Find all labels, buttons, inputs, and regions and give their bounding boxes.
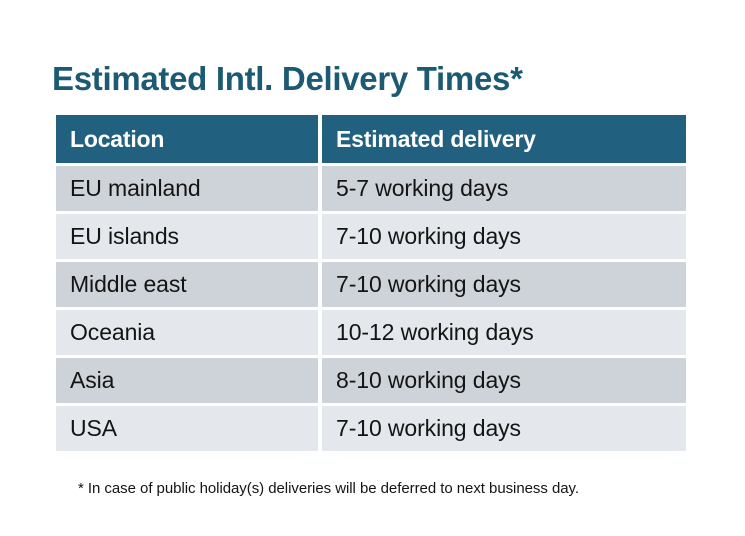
table-header: Location Estimated delivery — [56, 115, 686, 163]
table-row: EU mainland 5-7 working days — [56, 166, 686, 211]
footnote-text: * In case of public holiday(s) deliverie… — [78, 480, 579, 497]
page-title: Estimated Intl. Delivery Times* — [52, 58, 523, 100]
table-row: Middle east 7-10 working days — [56, 262, 686, 307]
cell-delivery: 7-10 working days — [322, 214, 686, 259]
cell-location: EU mainland — [56, 166, 318, 211]
table-row: Asia 8-10 working days — [56, 358, 686, 403]
cell-location: EU islands — [56, 214, 318, 259]
estimated-delivery-table: Location Estimated delivery EU mainland … — [52, 112, 690, 454]
cell-location: Middle east — [56, 262, 318, 307]
table-header-row: Location Estimated delivery — [56, 115, 686, 163]
delivery-times-page: Estimated Intl. Delivery Times* Location… — [0, 0, 745, 536]
cell-delivery: 10-12 working days — [322, 310, 686, 355]
table-row: EU islands 7-10 working days — [56, 214, 686, 259]
column-header-location: Location — [56, 115, 318, 163]
cell-delivery: 7-10 working days — [322, 406, 686, 451]
cell-location: Oceania — [56, 310, 318, 355]
cell-delivery: 7-10 working days — [322, 262, 686, 307]
table-body: EU mainland 5-7 working days EU islands … — [56, 166, 686, 451]
column-header-estimated-delivery: Estimated delivery — [322, 115, 686, 163]
cell-location: USA — [56, 406, 318, 451]
cell-location: Asia — [56, 358, 318, 403]
cell-delivery: 5-7 working days — [322, 166, 686, 211]
table-row: USA 7-10 working days — [56, 406, 686, 451]
cell-delivery: 8-10 working days — [322, 358, 686, 403]
table-row: Oceania 10-12 working days — [56, 310, 686, 355]
